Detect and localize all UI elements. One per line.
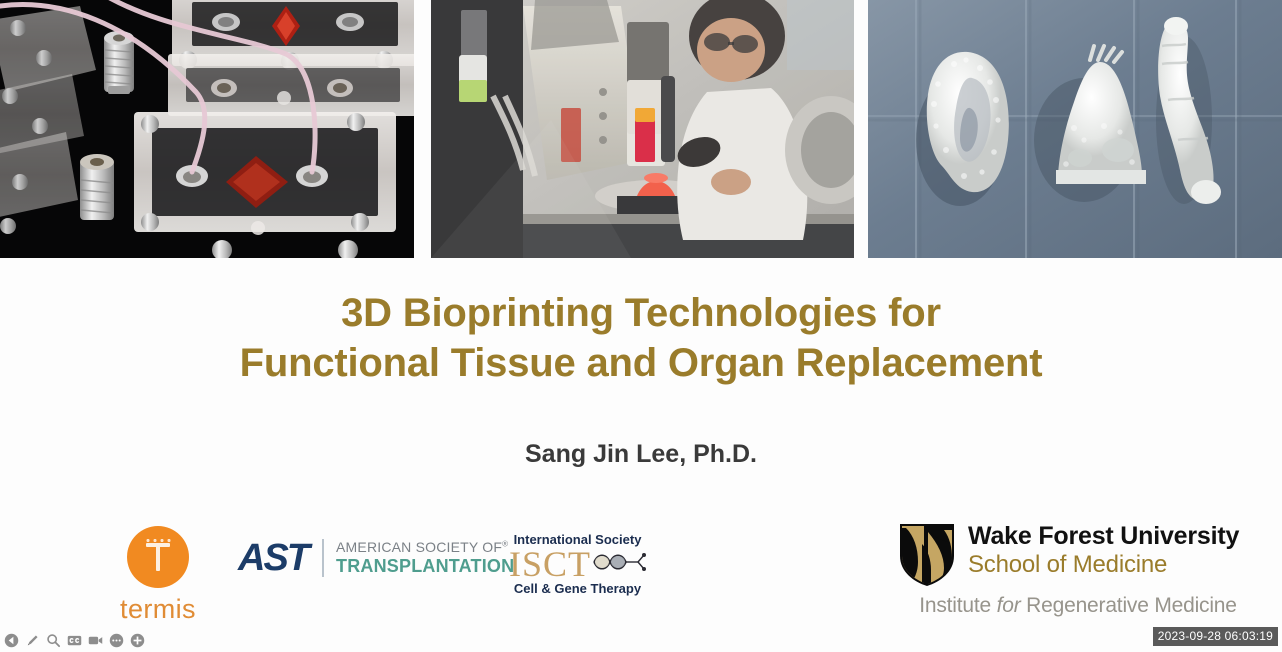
- pencil-icon[interactable]: [25, 633, 40, 648]
- magnifier-icon[interactable]: [46, 633, 61, 648]
- back-arrow-icon[interactable]: [4, 633, 19, 648]
- microfluidic-organ-chip-photo: [0, 0, 414, 258]
- wake-forest-logo: Wake Forest University School of Medicin…: [898, 522, 1258, 618]
- institute-pre: Institute: [919, 594, 991, 617]
- institute-post: Regenerative Medicine: [1026, 594, 1237, 617]
- presenter-name: Sang Jin Lee, Ph.D.: [0, 440, 1282, 469]
- ast-logo: AST AMERICAN SOCIETY OF® TRANSPLANTATION: [238, 534, 514, 582]
- video-camera-icon[interactable]: [88, 633, 103, 648]
- more-options-icon[interactable]: [109, 633, 124, 648]
- ast-wordmark: AMERICAN SOCIETY OF® TRANSPLANTATION: [336, 540, 514, 576]
- ast-acronym: AST: [238, 537, 308, 580]
- ast-line-1: AMERICAN SOCIETY OF®: [336, 540, 514, 556]
- ast-divider: [322, 539, 324, 577]
- institute-for: for: [997, 594, 1021, 617]
- isct-logo: International Society ISCT: [495, 532, 660, 596]
- wfu-wordmark: Wake Forest University School of Medicin…: [968, 522, 1239, 579]
- termis-t-stem: [156, 543, 160, 571]
- slide-screen: 3D Bioprinting Technologies for Function…: [0, 0, 1282, 652]
- title-line-2: Functional Tissue and Organ Replacement: [0, 338, 1282, 388]
- wfu-line-2: School of Medicine: [968, 551, 1239, 579]
- wake-forest-shield-icon: [898, 522, 956, 588]
- printed-constructs-photo: [868, 0, 1282, 258]
- title-line-1: 3D Bioprinting Technologies for: [0, 288, 1282, 338]
- termis-logo: termis: [108, 526, 208, 625]
- dna-helix-icon: [592, 550, 646, 579]
- ast-line-2: TRANSPLANTATION: [336, 556, 514, 576]
- isct-acronym: ISCT: [509, 546, 591, 582]
- closed-caption-icon[interactable]: [67, 633, 82, 648]
- timestamp-overlay: 2023-09-28 06:03:19: [1153, 627, 1278, 646]
- wfu-main-row: Wake Forest University School of Medicin…: [898, 522, 1258, 588]
- photo-strip: [0, 0, 1282, 260]
- bioprinter-lab-photo: [431, 0, 854, 258]
- termis-wordmark: termis: [108, 594, 208, 625]
- wfu-institute-line: Institute for Regenerative Medicine: [898, 594, 1258, 618]
- isct-acronym-row: ISCT: [495, 546, 660, 582]
- ast-line-1-text: AMERICAN SOCIETY OF: [336, 539, 502, 555]
- slide-title: 3D Bioprinting Technologies for Function…: [0, 288, 1282, 388]
- player-toolbar[interactable]: [4, 633, 145, 648]
- add-circle-icon[interactable]: [130, 633, 145, 648]
- termis-sun-icon: [127, 526, 189, 588]
- logo-row: termis AST AMERICAN SOCIETY OF® TRANSPLA…: [0, 512, 1282, 622]
- wfu-line-1: Wake Forest University: [968, 522, 1239, 551]
- isct-line-3: Cell & Gene Therapy: [495, 581, 660, 596]
